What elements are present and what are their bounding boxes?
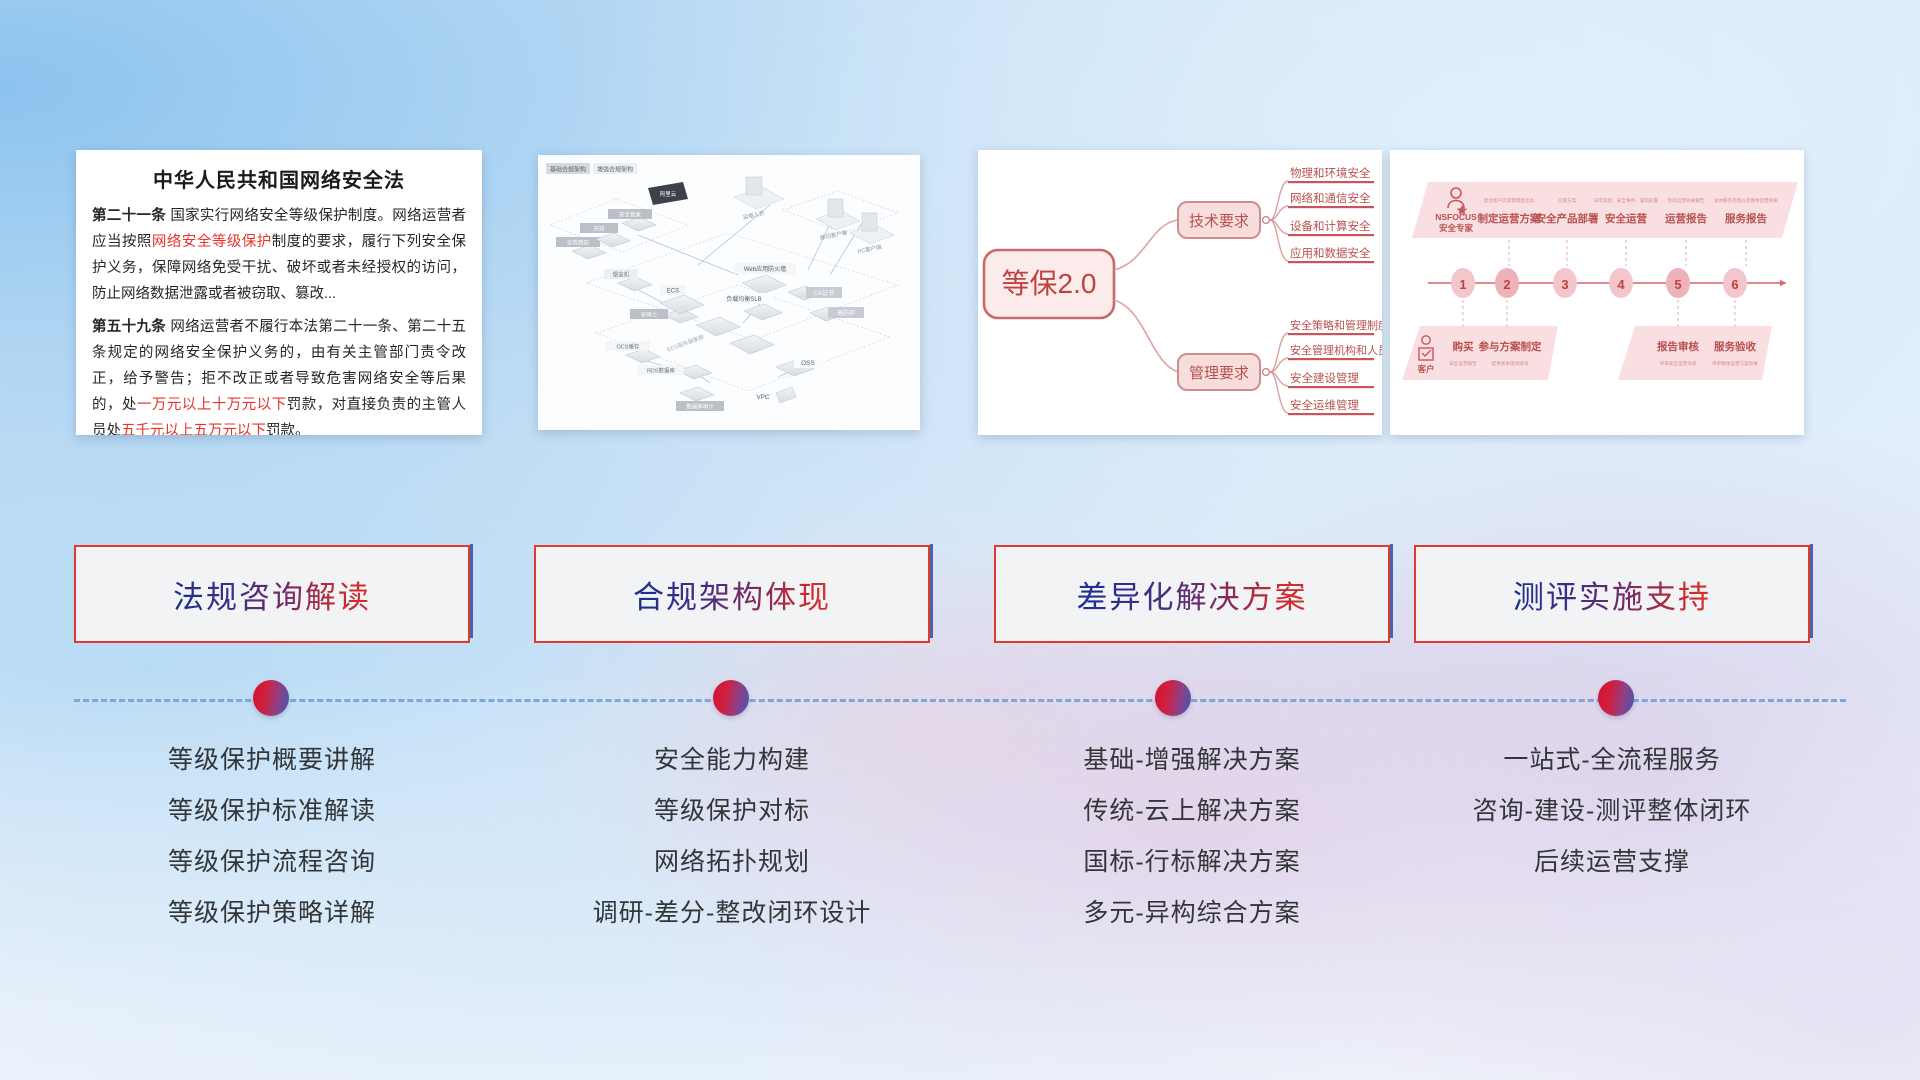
arch-node-12: 高防IP: [837, 309, 855, 317]
list-item: 后续运营支撑: [1414, 837, 1810, 888]
section-headers-row: 法规咨询解读 合规架构体现 差异化解决方案 测评实施支持: [0, 545, 1920, 645]
nsfocus-marker-3: 4: [1617, 277, 1625, 292]
nsfocus-bottom-step-3-caption: 评审整体运营方案效果: [1712, 360, 1758, 367]
arch-node-7: 数据库审计: [686, 403, 714, 411]
mindmap-branch-0-item-3: 应用和数据安全: [1290, 246, 1371, 260]
section-header-1-label: 合规架构体现: [633, 572, 831, 617]
nsfocus-bottom-step-2-title: 报告审核: [1657, 340, 1699, 353]
nsfocus-actor-name: NSFOCUS: [1435, 212, 1477, 222]
section-list-1: 安全能力构建 等级保护对标 网络拓扑规划 调研-差分-整改闭环设计: [534, 735, 930, 939]
mindmap-branch-0-item-1: 网络和通信安全: [1290, 191, 1371, 205]
mindmap-canvas: 等保2.0 技术要求: [978, 150, 1382, 435]
nsfocus-top-step-0-caption: 结合客户实际需明后出具: [1484, 197, 1535, 204]
section-list-3: 一站式-全流程服务 咨询-建设-测评整体闭环 后续运营支撑: [1414, 735, 1810, 888]
law-card-body: 中华人民共和国网络安全法 第二十一条 国家实行网络安全等级保护制度。网络运营者应…: [76, 150, 482, 435]
law-article-2-seg-1: 一万元以上十万元以下: [137, 397, 287, 413]
section-header-3[interactable]: 测评实施支持: [1414, 545, 1810, 643]
section-header-0-label: 法规咨询解读: [173, 572, 371, 617]
nsfocus-bottom-step-3-title: 服务验收: [1714, 340, 1756, 353]
arch-node-1: 先知: [593, 225, 604, 233]
mindmap-root-node[interactable]: 等保2.0: [984, 250, 1114, 318]
arch-node-13: OSS: [801, 360, 815, 367]
list-item: 等级保护流程咨询: [74, 837, 470, 888]
nsfocus-bottom-step-1-caption: 提供基本现状情况: [1492, 360, 1529, 367]
section-header-0[interactable]: 法规咨询解读: [74, 545, 470, 643]
architecture-svg: 基础合规架构 增强合规架构 阿里云: [538, 155, 920, 430]
list-item: 等级保护策略详解: [74, 888, 470, 939]
nsfocus-top-step-1-caption: 实施方案: [1558, 197, 1577, 204]
nsfocus-marker-2: 3: [1561, 277, 1568, 292]
nsfocus-marker-0: 1: [1459, 277, 1466, 292]
arch-node-4: 安骑士: [641, 311, 658, 319]
arch-node-11: CA证书: [814, 289, 834, 297]
card-law-text[interactable]: 中华人民共和国网络安全法 第二十一条 国家实行网络安全等级保护制度。网络运营者应…: [76, 150, 482, 435]
timeline-dot-2[interactable]: [1155, 680, 1191, 716]
nsfocus-actor-sub: 安全专家: [1439, 223, 1474, 233]
arch-tab-1[interactable]: 增强合规架构: [597, 166, 633, 174]
nsfocus-bottom-step-0-title: 购买: [1453, 340, 1475, 353]
card-mindmap[interactable]: 等保2.0 技术要求: [978, 150, 1382, 435]
law-title: 中华人民共和国网络安全法: [92, 164, 466, 193]
mindmap-branch-0-item-2: 设备和计算安全: [1290, 219, 1371, 233]
section-header-2-label: 差异化解决方案: [1077, 572, 1308, 617]
section-header-2[interactable]: 差异化解决方案: [994, 545, 1390, 643]
arch-node-5: OCS缓存: [617, 343, 640, 351]
arch-tab-0[interactable]: 基础合规架构: [550, 166, 586, 174]
arch-node-2: 安全管家: [619, 211, 642, 219]
mindmap-root-label: 等保2.0: [1002, 268, 1097, 299]
list-item: 等级保护对标: [534, 786, 930, 837]
list-item: 等级保护概要讲解: [74, 735, 470, 786]
nsfocus-bottom-step-1-title: 参与方案制定: [1479, 340, 1542, 353]
mindmap-branch-1-item-2: 安全建设管理: [1290, 371, 1359, 385]
section-lists-row: 等级保护概要讲解 等级保护标准解读 等级保护流程咨询 等级保护策略详解 安全能力…: [0, 735, 1920, 975]
nsfocus-svg: NSFOCUS 安全专家 结合客户实际需明后出具 制定运营方案 实施方案 安全产…: [1390, 150, 1804, 435]
nsfocus-top-step-3-title: 运营报告: [1665, 212, 1707, 225]
arch-node-10: 负载均衡SLB: [726, 295, 761, 303]
mindmap-branch-1-item-0: 安全策略和管理制度: [1290, 318, 1382, 332]
arch-node-6: RDS数据库: [647, 367, 676, 375]
mindmap-branch-0-label: 技术要求: [1189, 213, 1249, 230]
nsfocus-top-step-0-title: 制定运营方案: [1478, 212, 1541, 225]
nsfocus-marker-4: 5: [1674, 277, 1681, 292]
law-article-1-seg-1: 网络安全等级保护: [152, 234, 272, 250]
list-item: 网络拓扑规划: [534, 837, 930, 888]
nsfocus-customer-label: 客户: [1416, 364, 1434, 374]
list-item: 国标-行标解决方案: [994, 837, 1390, 888]
timeline-track: [0, 680, 1920, 720]
timeline-dot-1[interactable]: [713, 680, 749, 716]
law-article-1-label: 第二十一条: [92, 208, 166, 224]
mindmap-branch-1-item-3: 安全运维管理: [1290, 398, 1359, 412]
arch-node-8: ECS: [667, 289, 679, 295]
nsfocus-top-step-1-title: 安全产品部署: [1536, 212, 1599, 225]
card-architecture-diagram[interactable]: 基础合规架构 增强合规架构 阿里云: [538, 155, 920, 430]
arch-node-9: Web应用防火墙: [744, 265, 786, 273]
nsfocus-canvas: NSFOCUS 安全专家 结合客户实际需明后出具 制定运营方案 实施方案 安全产…: [1390, 150, 1804, 435]
law-article-2-label: 第五十九条: [92, 319, 166, 335]
mindmap-svg: 等保2.0 技术要求: [978, 150, 1382, 435]
mindmap-branch-0[interactable]: 技术要求: [1178, 202, 1269, 238]
section-list-0: 等级保护概要讲解 等级保护标准解读 等级保护流程咨询 等级保护策略详解: [74, 735, 470, 939]
arch-node-3: 堡垒机: [613, 271, 630, 279]
architecture-canvas: 基础合规架构 增强合规架构 阿里云: [538, 155, 920, 430]
list-item: 调研-差分-整改闭环设计: [534, 888, 930, 939]
nsfocus-marker-5: 6: [1731, 277, 1738, 292]
preview-cards-row: 中华人民共和国网络安全法 第二十一条 国家实行网络安全等级保护制度。网络运营者应…: [0, 150, 1920, 440]
list-item: 等级保护标准解读: [74, 786, 470, 837]
mindmap-branch-0-item-0: 物理和环境安全: [1290, 166, 1371, 180]
mindmap-branch-1-item-1: 安全管理机构和人员: [1290, 343, 1382, 357]
nsfocus-top-step-4-title: 服务报告: [1725, 212, 1767, 225]
timeline-dot-0[interactable]: [253, 680, 289, 716]
nsfocus-top-step-2-title: 安全运营: [1605, 212, 1647, 225]
nsfocus-bottom-step-0-caption: 安全运营报告: [1449, 360, 1477, 367]
nsfocus-top-step-3-caption: 阶段运营效果报告: [1668, 197, 1705, 204]
law-article-2-seg-3: 五千元以上五万元以下: [121, 423, 266, 435]
mindmap-branch-1[interactable]: 管理要求: [1178, 354, 1269, 390]
section-header-3-label: 测评实施支持: [1513, 572, 1711, 617]
arch-node-14: VPC: [756, 394, 770, 401]
nsfocus-top-step-4-caption: 总体服务范围以及整体运营效果: [1714, 197, 1779, 204]
section-header-1[interactable]: 合规架构体现: [534, 545, 930, 643]
nsfocus-top-step-2-caption: 日常巡检、安全事件、漏洞处置: [1594, 197, 1659, 204]
timeline-dashed-line: [74, 699, 1846, 702]
list-item: 传统-云上解决方案: [994, 786, 1390, 837]
nsfocus-bottom-step-2-caption: 评审安全运营效果: [1660, 360, 1697, 367]
list-item: 一站式-全流程服务: [1414, 735, 1810, 786]
list-item: 多元-异构综合方案: [994, 888, 1390, 939]
arch-node-0: 态势感知: [567, 239, 589, 247]
law-article-2: 第五十九条 网络运营者不履行本法第二十一条、第二十五条规定的网络安全保护义务的，…: [92, 314, 466, 435]
section-list-2: 基础-增强解决方案 传统-云上解决方案 国标-行标解决方案 多元-异构综合方案: [994, 735, 1390, 939]
law-article-2-seg-4: 罚款。: [266, 423, 310, 435]
mindmap-branch-1-label: 管理要求: [1189, 365, 1249, 382]
list-item: 安全能力构建: [534, 735, 930, 786]
list-item: 咨询-建设-测评整体闭环: [1414, 786, 1810, 837]
list-item: 基础-增强解决方案: [994, 735, 1390, 786]
nsfocus-marker-1: 2: [1503, 277, 1510, 292]
arch-cloud-label: 阿里云: [660, 190, 677, 198]
timeline-dot-3[interactable]: [1598, 680, 1634, 716]
card-nsfocus-timeline[interactable]: NSFOCUS 安全专家 结合客户实际需明后出具 制定运营方案 实施方案 安全产…: [1390, 150, 1804, 435]
nsfocus-bottom-right-banner: [1618, 326, 1772, 380]
law-article-1: 第二十一条 国家实行网络安全等级保护制度。网络运营者应当按照网络安全等级保护制度…: [92, 203, 466, 307]
